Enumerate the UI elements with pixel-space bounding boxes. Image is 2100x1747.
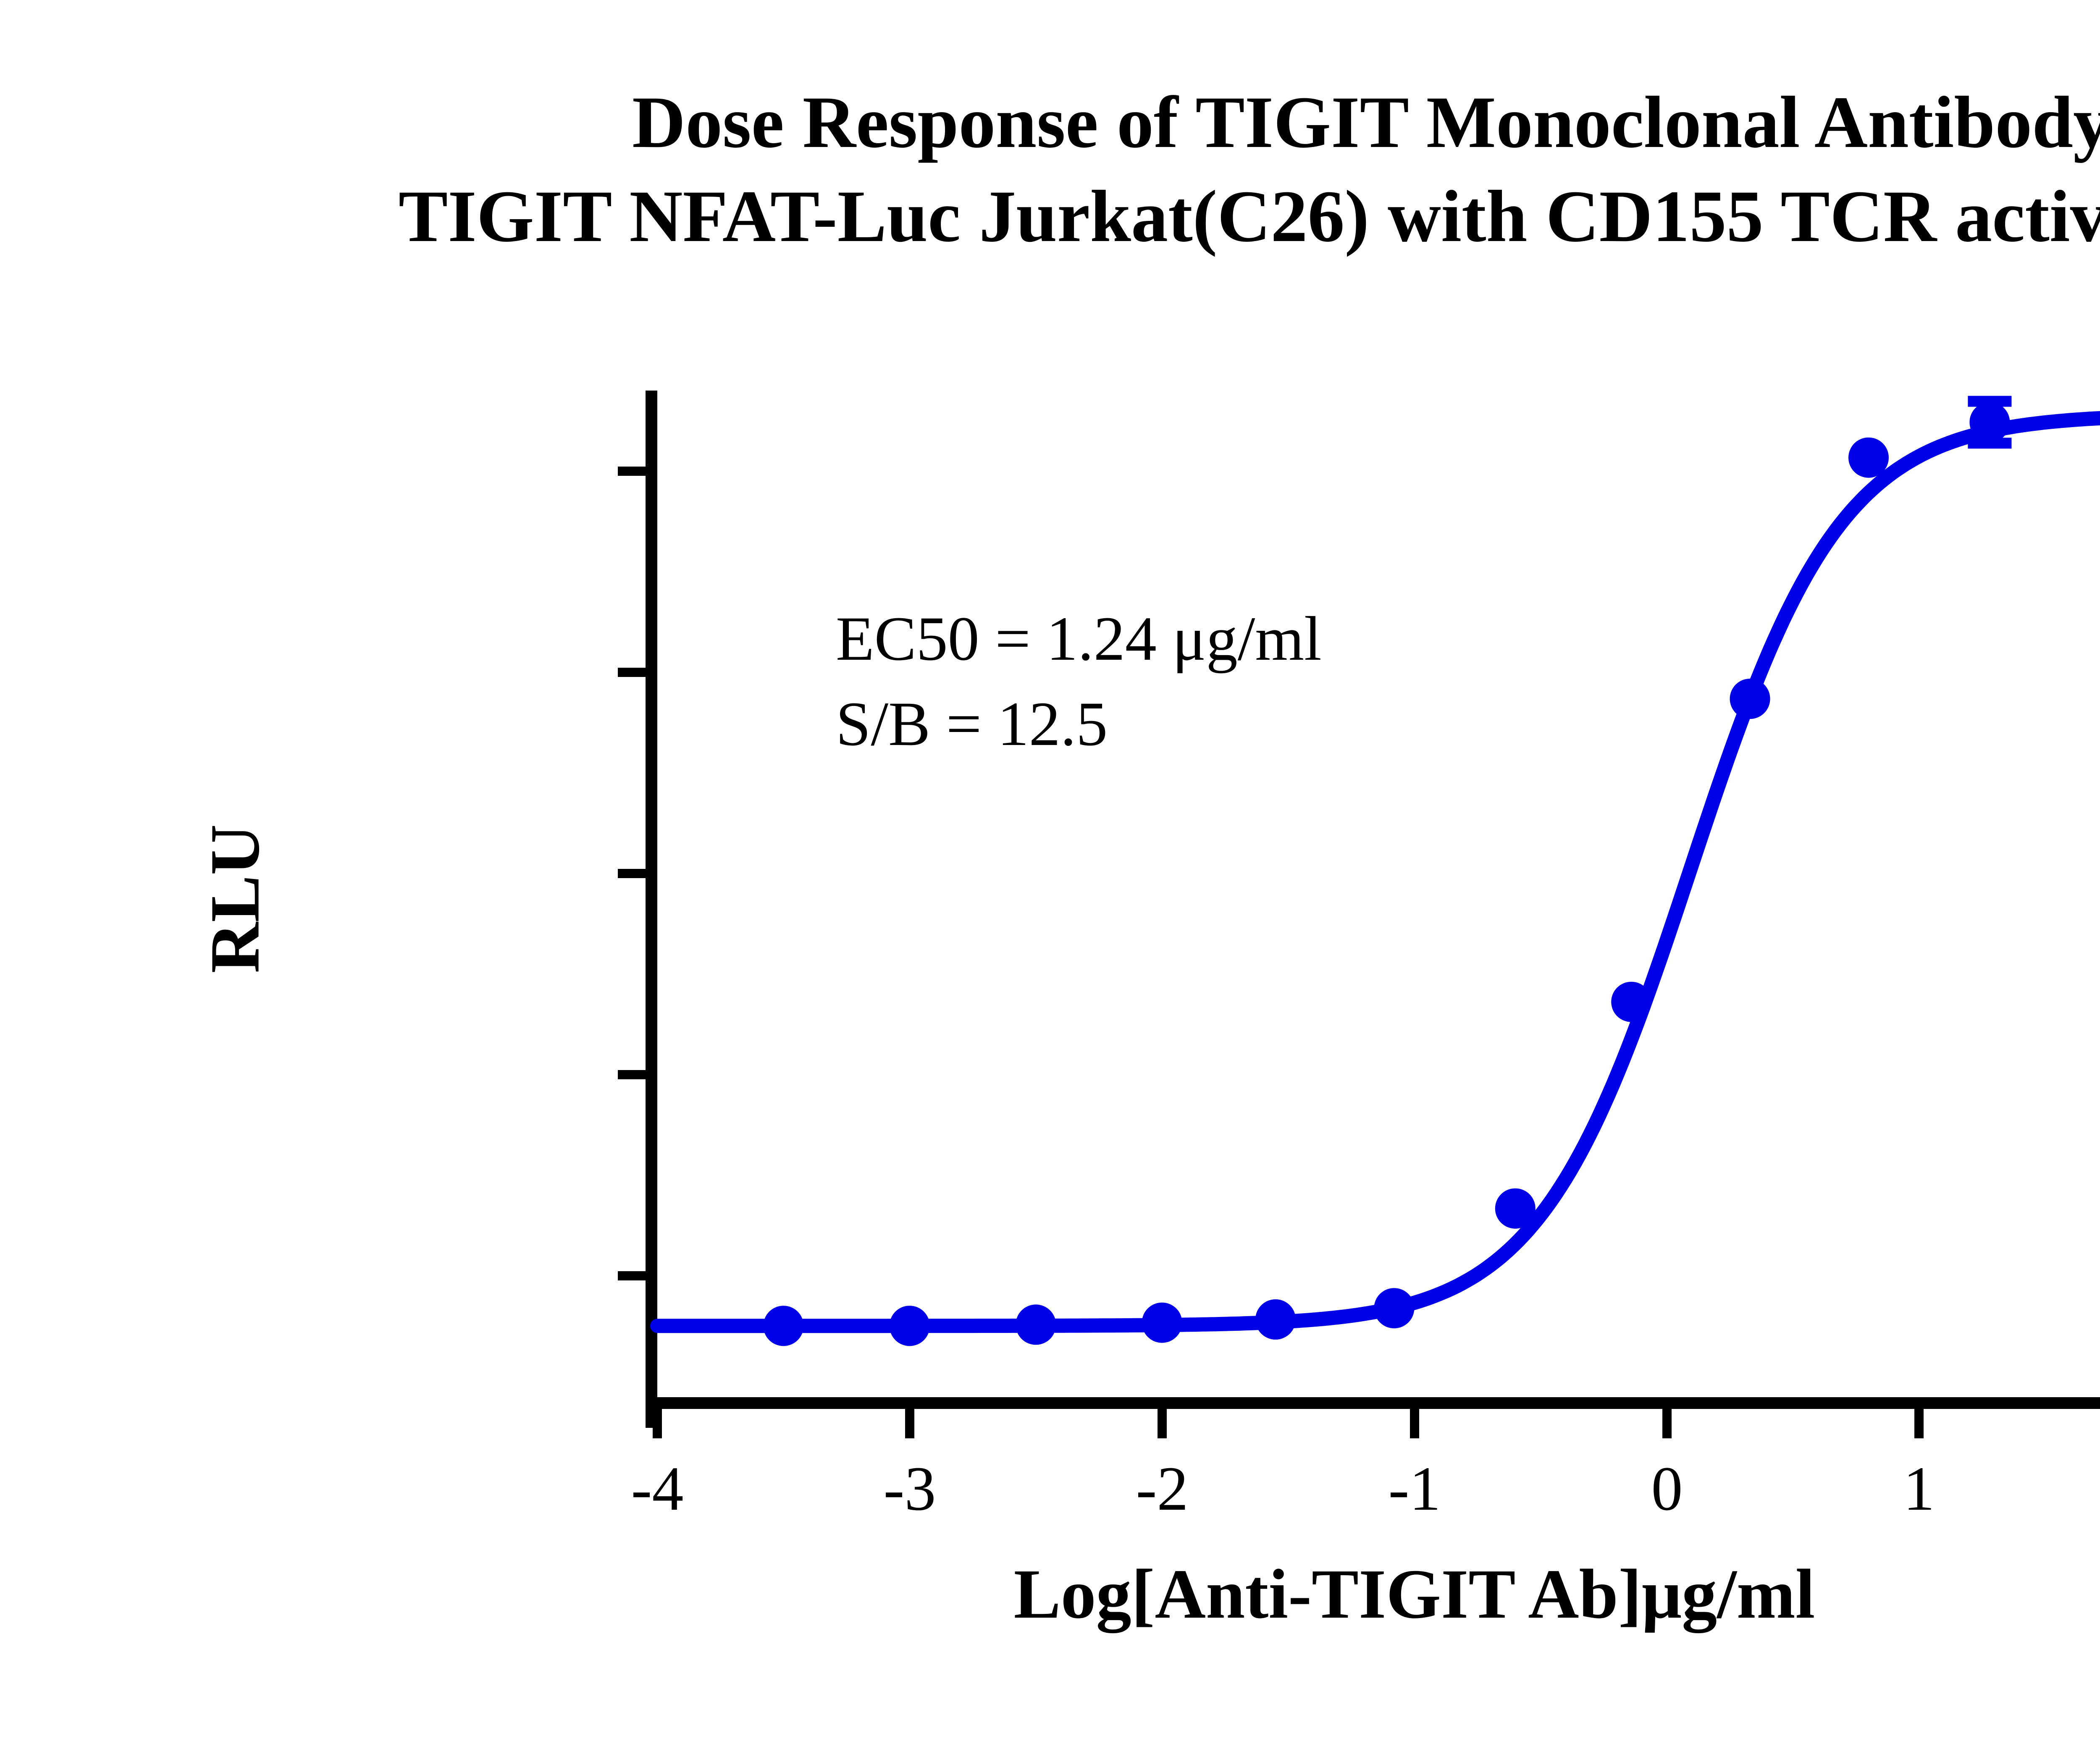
y-tick-mark [618,668,646,677]
y-tick-mark [618,1070,646,1079]
data-point-marker [1255,1299,1296,1340]
data-point-marker [1969,402,2010,442]
data-point-marker [1611,982,1651,1022]
chart-figure: Dose Response of TIGIT Monoclonal Antibo… [0,0,2100,1747]
x-tick-label: 0 [1651,1457,1683,1520]
data-point-marker [1848,438,1889,478]
y-axis-title: RLU [195,824,276,973]
y-tick-mark [618,869,646,878]
data-point-marker [1016,1304,1056,1345]
data-point-marker [1142,1303,1182,1343]
x-tick-label: -4 [631,1457,684,1520]
x-axis-title: Log[Anti-TIGIT Ab]μg/ml [657,1554,2100,1635]
x-tick-label: -2 [1136,1457,1189,1520]
data-point-marker [763,1306,803,1346]
data-point-marker [1730,679,1770,719]
x-tick-label: 1 [1903,1457,1935,1520]
x-tick-label: -1 [1389,1457,1441,1520]
data-point-marker [1495,1188,1536,1229]
plot-area [657,378,2100,1403]
chart-title: Dose Response of TIGIT Monoclonal Antibo… [0,76,2100,263]
fit-curve-line [657,416,2100,1326]
chart-title-line-1: Dose Response of TIGIT Monoclonal Antibo… [0,76,2100,170]
y-axis-spine [646,391,657,1428]
data-point-marker [1374,1288,1414,1328]
x-tick-label: -3 [884,1457,936,1520]
data-series-svg [657,378,2100,1428]
chart-title-line-2: TIGIT NFAT-Luc Jurkat(C26) with CD155 TC… [0,170,2100,264]
y-tick-mark [618,467,646,476]
data-point-marker [890,1306,930,1346]
y-tick-mark [618,1271,646,1280]
